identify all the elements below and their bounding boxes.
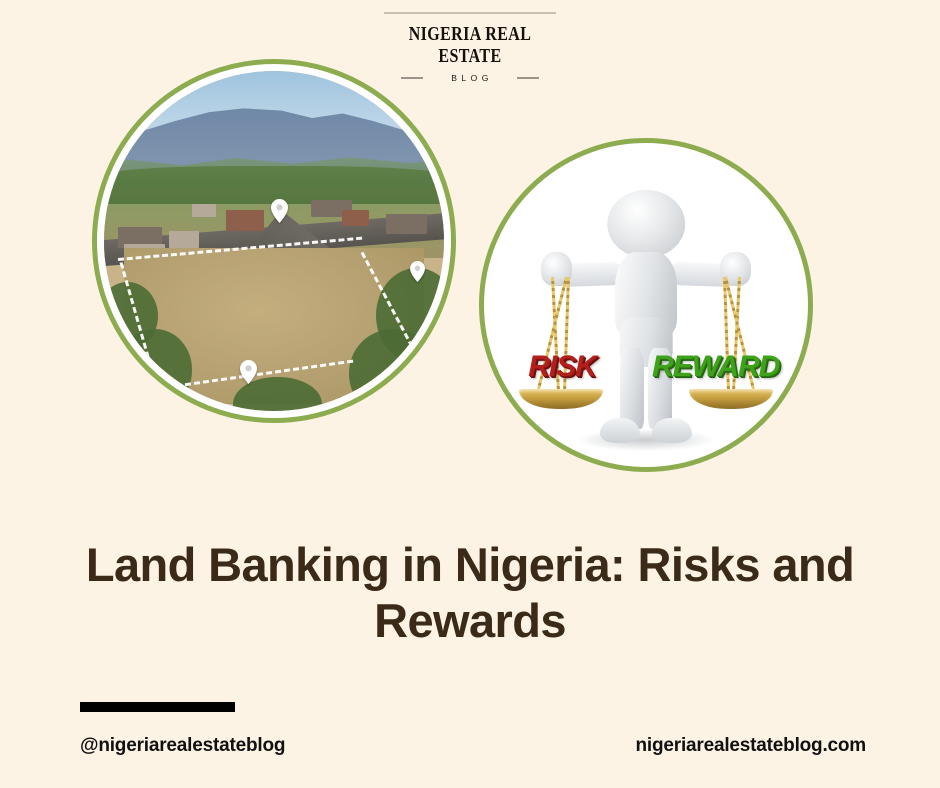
map-pin-icon — [271, 199, 288, 223]
logo-tagline: BLOG — [451, 73, 493, 83]
building — [169, 231, 200, 248]
risk-reward-frame: RISK REWARD — [491, 150, 801, 460]
logo-wordmark: NIGERIA REAL ESTATE — [94, 24, 846, 66]
logo-dash-right-icon — [517, 77, 539, 79]
reward-label: REWARD — [652, 350, 779, 384]
building — [342, 210, 369, 225]
scales-illustration: RISK REWARD — [491, 150, 801, 460]
map-pin-icon — [240, 360, 257, 384]
land-photo-frame — [104, 71, 444, 411]
poster-canvas: NIGERIA REAL ESTATE BLOG — [0, 0, 940, 788]
logo-line-1: NIGERIA REAL — [409, 23, 532, 45]
vegetation — [349, 329, 437, 411]
scale-pan-right — [689, 389, 773, 409]
map-pin-icon — [410, 261, 427, 285]
vegetation — [118, 329, 193, 411]
figure-head — [607, 190, 685, 258]
land-photo-circle — [92, 59, 456, 423]
building — [386, 214, 427, 234]
risk-label: RISK — [528, 350, 596, 384]
footer-accent-bar — [80, 702, 235, 712]
figure-leg-left — [620, 348, 645, 429]
risk-reward-circle: RISK REWARD — [479, 138, 813, 472]
title-line-1: Land Banking in Nigeria: Risks and — [86, 538, 854, 591]
figure-foot-right — [652, 418, 692, 443]
logo-divider-rule — [384, 12, 556, 14]
figure-shadow — [578, 429, 714, 451]
figure-foot-left — [600, 418, 640, 443]
aerial-land-photo — [104, 71, 444, 411]
logo-line-2: ESTATE — [94, 46, 846, 66]
building — [192, 204, 216, 218]
title-line-2: Rewards — [374, 594, 566, 647]
page-title: Land Banking in Nigeria: Risks and Rewar… — [48, 537, 892, 649]
website-url[interactable]: nigeriarealestateblog.com — [636, 735, 866, 757]
scale-pan-left — [519, 389, 603, 409]
social-handle[interactable]: @nigeriarealestateblog — [80, 735, 285, 757]
building — [226, 210, 263, 230]
